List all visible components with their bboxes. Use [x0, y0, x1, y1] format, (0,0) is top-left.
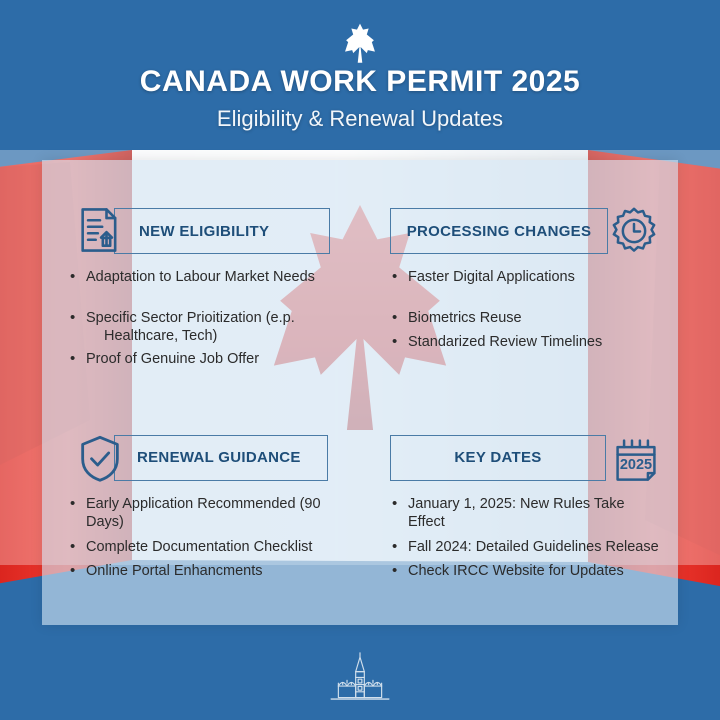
list-item: Early Application Recommended (90 Days): [68, 495, 338, 532]
maple-leaf-icon: [337, 22, 383, 64]
bullet-list: Early Application Recommended (90 Days) …: [68, 495, 338, 581]
card-header: NEW ELIGIBILITY: [68, 208, 338, 254]
bullet-list: January 1, 2025: New Rules Take Effect F…: [390, 495, 660, 581]
list-item: Standarized Review Timelines: [390, 333, 660, 352]
footer: [0, 642, 720, 712]
card-title: NEW ELIGIBILITY: [139, 223, 269, 240]
header: CANADA WORK PERMIT 2025 Eligibility & Re…: [0, 0, 720, 160]
list-item: Proof of Genuine Job Offer: [68, 350, 338, 369]
list-item-continuation: Healthcare, Tech): [68, 327, 338, 346]
parliament-building-icon: [323, 650, 397, 712]
card-title-frame: RENEWAL GUIDANCE: [114, 435, 328, 481]
list-item: January 1, 2025: New Rules Take Effect: [390, 495, 660, 532]
card-processing-changes: PROCESSING CHANGES Faster Digital Applic…: [360, 160, 678, 393]
list-item: Biometrics Reuse: [390, 309, 660, 328]
card-title: KEY DATES: [454, 449, 541, 466]
calendar-year-label: 2025: [620, 456, 652, 472]
list-item: Complete Documentation Checklist: [68, 538, 338, 557]
card-title-frame: NEW ELIGIBILITY: [114, 208, 330, 254]
list-item: Adaptation to Labour Market Needs: [68, 268, 338, 287]
card-header: 2025 KEY DATES: [390, 435, 660, 481]
card-header: RENEWAL GUIDANCE: [68, 435, 338, 481]
gear-clock-icon: [608, 205, 660, 257]
list-item: Online Portal Enhancments: [68, 562, 338, 581]
calendar-2025-icon: 2025: [610, 433, 662, 485]
card-title-frame: PROCESSING CHANGES: [390, 208, 608, 254]
bullet-list: Adaptation to Labour Market Needs Specif…: [68, 268, 338, 368]
list-item: Faster Digital Applications: [390, 268, 660, 287]
card-key-dates: 2025 KEY DATES January 1, 2025: New Rule…: [360, 393, 678, 626]
page-title: CANADA WORK PERMIT 2025: [0, 66, 720, 98]
bullet-list: Faster Digital Applications Biometrics R…: [390, 268, 660, 352]
document-upload-icon: [74, 204, 126, 256]
card-title: PROCESSING CHANGES: [407, 223, 592, 240]
page-subtitle: Eligibility & Renewal Updates: [0, 106, 720, 132]
card-header: PROCESSING CHANGES: [390, 208, 660, 254]
shield-check-icon: [74, 433, 126, 485]
list-item: Specific Sector Prioitization (e.p.: [68, 309, 338, 328]
cards-grid: NEW ELIGIBILITY Adaptation to Labour Mar…: [42, 160, 678, 625]
list-item: Check IRCC Website for Updates: [390, 562, 660, 581]
card-title: RENEWAL GUIDANCE: [137, 449, 301, 466]
card-renewal-guidance: RENEWAL GUIDANCE Early Application Recom…: [42, 393, 360, 626]
list-item: Fall 2024: Detailed Guidelines Release: [390, 538, 660, 557]
card-title-frame: KEY DATES: [390, 435, 606, 481]
card-new-eligibility: NEW ELIGIBILITY Adaptation to Labour Mar…: [42, 160, 360, 393]
